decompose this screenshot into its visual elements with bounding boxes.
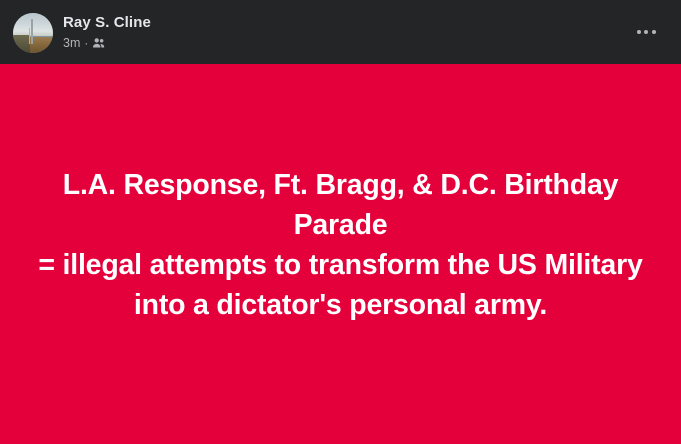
friends-icon[interactable] xyxy=(92,36,106,50)
avatar-tower xyxy=(31,19,33,44)
post-text: L.A. Response, Ft. Bragg, & D.C. Birthda… xyxy=(36,165,645,325)
post-header: Ray S. Cline 3m · xyxy=(0,0,681,64)
post-background-card[interactable]: L.A. Response, Ft. Bragg, & D.C. Birthda… xyxy=(0,64,681,444)
avatar-sky xyxy=(13,13,53,38)
meta-separator: · xyxy=(84,36,88,50)
author-name[interactable]: Ray S. Cline xyxy=(63,14,151,32)
post-screen: Ray S. Cline 3m · L xyxy=(0,0,681,444)
avatar[interactable] xyxy=(13,13,53,53)
avatar-pole xyxy=(29,28,30,45)
post-timestamp[interactable]: 3m xyxy=(63,36,80,50)
post-meta: 3m · xyxy=(63,36,151,50)
ellipsis-horizontal-icon xyxy=(637,30,656,34)
post-options-button[interactable] xyxy=(629,15,663,49)
avatar-foreground xyxy=(13,35,30,53)
post-header-text: Ray S. Cline 3m · xyxy=(63,14,151,50)
